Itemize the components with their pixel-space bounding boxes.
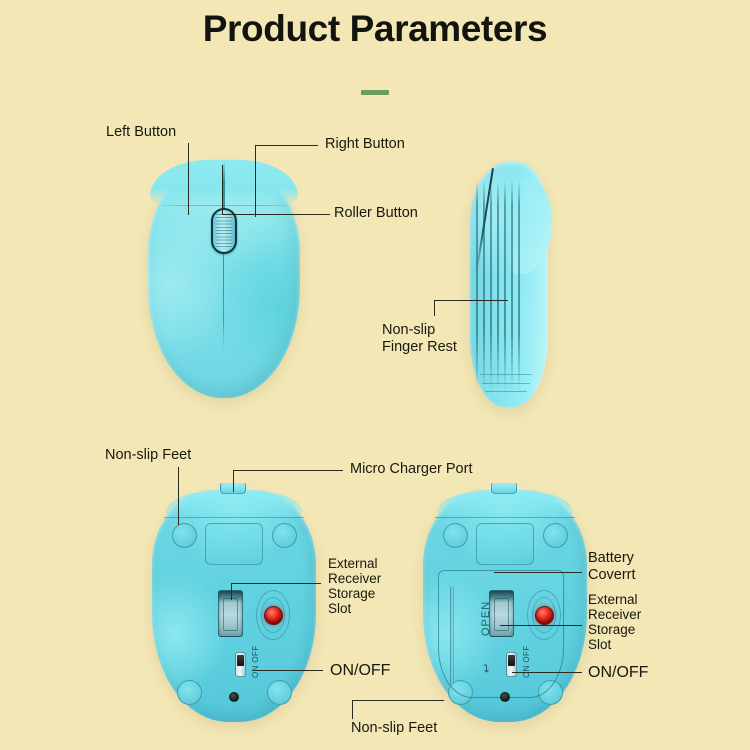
finger-rest-ribs	[474, 180, 520, 390]
leader-non-slip-feet-bottom-vertical	[352, 700, 353, 719]
optical-sensor-left	[264, 606, 283, 625]
battery-cover-open-arrow: ↩	[480, 664, 493, 673]
scroll-wheel-ridges	[216, 214, 232, 248]
leader-micro-charger-port-horizontal	[233, 470, 343, 471]
mouse-centre-groove	[223, 254, 224, 350]
leader-on-off-left-horizontal	[253, 670, 323, 671]
non-slip-foot-top-right-right-view	[543, 523, 568, 548]
page-title: Product Parameters	[0, 8, 750, 50]
mouse-side-view	[470, 162, 548, 407]
leader-roller-button-vertical	[222, 165, 223, 214]
leader-right-button-vertical	[255, 145, 256, 217]
mouse-bottom-view-left: ON OFF	[152, 490, 316, 722]
leader-roller-button-horizontal	[222, 214, 330, 215]
receiver-storage-slot-right	[489, 590, 514, 637]
leader-non-slip-feet-top-vertical	[178, 467, 179, 525]
leader-receiver-slot-right-horizontal	[500, 625, 582, 626]
label-recess-left	[205, 523, 263, 565]
label-recess-right	[476, 523, 534, 565]
bottom-screw-left	[229, 692, 239, 702]
callout-receiver-slot-right: External Receiver Storage Slot	[588, 592, 641, 652]
mouse-bottom-chamfer-right	[437, 492, 573, 518]
leader-receiver-slot-left-vertical	[231, 583, 232, 600]
non-slip-foot-top-left	[172, 523, 197, 548]
leader-right-button-horizontal	[255, 145, 318, 146]
callout-non-slip-feet-bottom: Non-slip Feet	[351, 720, 437, 737]
leader-finger-rest-vertical	[434, 300, 435, 316]
leader-finger-rest-horizontal	[434, 300, 508, 301]
non-slip-foot-top-left-right-view	[443, 523, 468, 548]
leader-battery-cover-horizontal	[494, 572, 582, 573]
leader-non-slip-feet-bottom-horizontal	[352, 700, 444, 701]
power-switch-label-left: ON OFF	[251, 645, 260, 678]
non-slip-foot-bottom-right	[267, 680, 292, 705]
product-parameters-infographic: Product Parameters Left Button Right But…	[0, 0, 750, 750]
bottom-screw-right	[500, 692, 510, 702]
callout-receiver-slot-left: External Receiver Storage Slot	[328, 556, 381, 616]
callout-right-button: Right Button	[325, 136, 405, 153]
callout-roller-button: Roller Button	[334, 205, 418, 222]
leader-micro-charger-port-vertical	[233, 470, 234, 492]
non-slip-foot-bottom-left	[177, 680, 202, 705]
mouse-bottom-view-right: OPEN ↩ ON OFF	[423, 490, 587, 722]
mouse-bottom-chamfer-line-left	[164, 517, 304, 518]
mouse-bottom-chamfer-line-right	[435, 517, 575, 518]
receiver-storage-slot-inner-left	[223, 598, 238, 631]
leader-left-button-vertical	[188, 143, 189, 215]
callout-non-slip-feet-top: Non-slip Feet	[105, 447, 191, 464]
callout-non-slip-finger-rest: Non-slip Finger Rest	[382, 322, 457, 355]
leader-on-off-right-horizontal	[512, 672, 582, 673]
optical-sensor-right	[535, 606, 554, 625]
mouse-top-view	[148, 160, 300, 398]
callout-battery-covert: Battery Coverrt	[588, 550, 636, 583]
battery-cover-groove	[450, 586, 454, 684]
mouse-bottom-chamfer-left	[166, 492, 302, 518]
leader-receiver-slot-left-horizontal	[231, 583, 321, 584]
callout-on-off-right: ON/OFF	[588, 663, 648, 682]
callout-left-button: Left Button	[106, 124, 176, 141]
micro-charger-port-right	[491, 483, 517, 494]
callout-on-off-left: ON/OFF	[330, 661, 390, 680]
callout-micro-charger-port: Micro Charger Port	[350, 461, 472, 478]
title-underline-rule	[361, 90, 389, 95]
power-switch-left	[235, 652, 246, 677]
non-slip-foot-top-right	[272, 523, 297, 548]
